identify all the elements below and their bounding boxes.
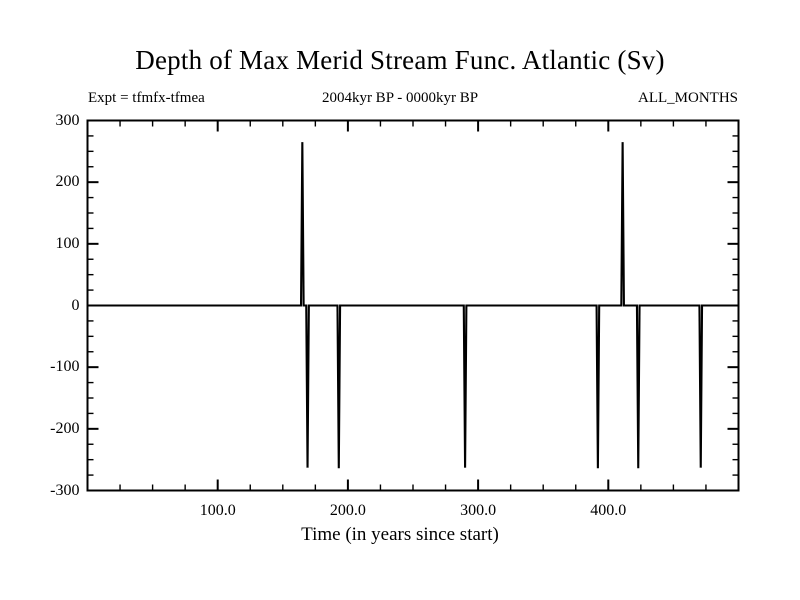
x-axis-title: Time (in years since start) <box>0 523 800 546</box>
y-tick-label: 0 <box>10 298 80 314</box>
y-tick-label: -100 <box>10 359 80 375</box>
plot-area <box>0 0 800 600</box>
x-tick-label: 200.0 <box>298 503 398 519</box>
x-tick-label: 400.0 <box>558 503 658 519</box>
figure-canvas: Depth of Max Merid Stream Func. Atlantic… <box>0 0 800 600</box>
x-tick-label: 300.0 <box>428 503 528 519</box>
y-tick-label: -300 <box>10 483 80 499</box>
y-tick-label: 300 <box>10 113 80 129</box>
y-tick-label: 100 <box>10 236 80 252</box>
y-tick-label: -200 <box>10 421 80 437</box>
y-tick-label: 200 <box>10 174 80 190</box>
data-series-line <box>88 142 739 468</box>
x-tick-label: 100.0 <box>168 503 268 519</box>
